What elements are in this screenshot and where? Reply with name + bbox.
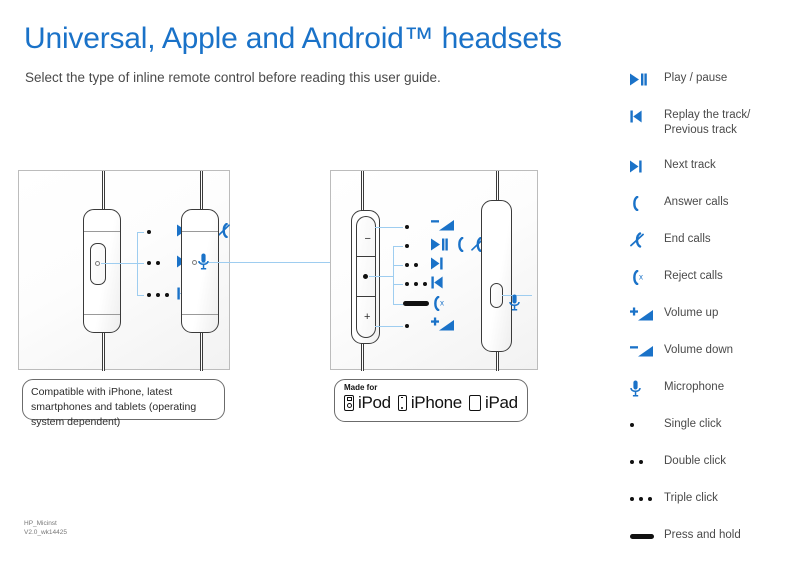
legend-label: Microphone xyxy=(664,379,724,395)
answer-call-icon xyxy=(455,237,464,252)
legend-label: Replay the track/ Previous track xyxy=(664,107,750,138)
legend-item-volume-down: Volume down xyxy=(630,342,800,360)
iphone-icon xyxy=(398,395,407,411)
press-hold-icon xyxy=(630,527,664,544)
legend-label: Volume up xyxy=(664,305,718,321)
legend-item-press-and-hold: Press and hold xyxy=(630,527,800,545)
cable-right-lower xyxy=(200,331,203,371)
microphone-icon xyxy=(198,253,209,270)
previous-track-icon xyxy=(431,276,443,289)
marker-triple-click xyxy=(147,293,169,297)
legend-label: Press and hold xyxy=(664,527,741,543)
volume-down-button[interactable]: − xyxy=(356,216,376,256)
cable-left xyxy=(361,171,364,211)
legend-item-triple-click: Triple click xyxy=(630,490,800,508)
cable-left xyxy=(102,171,105,211)
cable-right xyxy=(496,171,499,201)
single-click-icon xyxy=(630,416,664,433)
reject-call-icon: x xyxy=(630,268,664,285)
legend-item-volume-up: Volume up xyxy=(630,305,800,323)
play-pause-icon xyxy=(630,70,664,87)
actions-row-1 xyxy=(431,218,455,232)
marker-single-click-2 xyxy=(405,244,409,248)
leader-branch-c xyxy=(393,284,403,285)
next-track-icon xyxy=(431,257,443,270)
made-for-label: Made for xyxy=(344,384,518,392)
legend-item-play-pause: Play / pause xyxy=(630,70,800,88)
cable-right-lower xyxy=(496,351,499,371)
volume-down-icon xyxy=(630,342,664,359)
ipod-icon xyxy=(344,395,354,411)
next-track-icon xyxy=(630,157,664,174)
actions-row-2 xyxy=(431,237,484,252)
remote-body-mic xyxy=(481,200,512,352)
leader-volume-up xyxy=(375,326,403,327)
leader-branch-a xyxy=(393,246,403,247)
actions-row-6 xyxy=(431,317,455,332)
ipad-icon xyxy=(469,395,481,411)
microphone-hole xyxy=(192,260,197,265)
leader-volume-down xyxy=(375,227,403,228)
legend-item-microphone: Microphone xyxy=(630,379,800,397)
apple-caption: Made for iPod iPhone iPad xyxy=(334,379,528,422)
legend-item-double-click: Double click xyxy=(630,453,800,471)
document-page: Universal, Apple and Android™ headsets S… xyxy=(0,0,802,566)
volume-up-icon xyxy=(431,317,455,332)
legend-label: Triple click xyxy=(664,490,718,506)
marker-press-and-hold xyxy=(403,301,429,306)
universal-headset-diagram xyxy=(18,170,230,370)
leader-center-bracket xyxy=(393,246,394,304)
legend-label: Single click xyxy=(664,416,722,432)
microphone-icon xyxy=(509,294,520,311)
remote-body-mic xyxy=(181,209,219,333)
cable-right xyxy=(200,171,203,211)
marker-triple-click xyxy=(405,282,427,286)
leader-branch-2 xyxy=(137,263,144,264)
legend-label: End calls xyxy=(664,231,711,247)
ipad-label: iPad xyxy=(485,394,518,411)
marker-single-click xyxy=(147,230,151,234)
universal-caption: Compatible with iPhone, latest smartphon… xyxy=(22,379,225,420)
leader-branch-d xyxy=(393,304,403,305)
legend-item-next-track: Next track xyxy=(630,157,800,175)
legend: Play / pause Replay the track/ Previous … xyxy=(630,70,800,564)
leader-branch-b xyxy=(393,265,403,266)
marker-double-click xyxy=(147,261,160,265)
volume-up-button[interactable]: + xyxy=(356,297,376,338)
play-pause-icon xyxy=(431,238,448,251)
cable-left-lower xyxy=(361,343,364,371)
center-button-dot xyxy=(363,274,368,279)
ipod-label: iPod xyxy=(358,394,391,411)
end-call-icon xyxy=(630,231,664,248)
svg-text:x: x xyxy=(440,299,444,308)
marker-single-click-3 xyxy=(405,324,409,328)
legend-item-previous-track: Replay the track/ Previous track xyxy=(630,107,800,138)
leader-branch-1 xyxy=(137,232,144,233)
legend-item-answer-calls: Answer calls xyxy=(630,194,800,212)
leader-branch-3 xyxy=(137,295,144,296)
legend-item-end-calls: End calls xyxy=(630,231,800,249)
marker-single-click xyxy=(405,225,409,229)
made-for-devices: iPod iPhone iPad xyxy=(344,394,518,411)
microphone-callout-apple xyxy=(509,294,520,311)
cable-left-lower xyxy=(102,331,105,371)
actions-row-5: x xyxy=(431,296,448,311)
leader-line xyxy=(101,263,137,264)
previous-track-icon xyxy=(630,107,664,124)
page-subtitle: Select the type of inline remote control… xyxy=(25,70,441,85)
legend-label: Answer calls xyxy=(664,194,729,210)
iphone-label: iPhone xyxy=(411,394,462,411)
document-footer: HP_Micinst V2.0_wk14425 xyxy=(24,519,67,539)
actions-row-4 xyxy=(431,276,443,289)
legend-label: Reject calls xyxy=(664,268,723,284)
button-hole xyxy=(95,261,100,266)
svg-text:x: x xyxy=(639,272,643,281)
actions-row-3 xyxy=(431,257,443,270)
legend-label: Play / pause xyxy=(664,70,727,86)
legend-item-single-click: Single click xyxy=(630,416,800,434)
page-title: Universal, Apple and Android™ headsets xyxy=(24,22,562,56)
leader-center xyxy=(369,276,393,277)
double-click-icon xyxy=(630,453,664,470)
triple-click-icon xyxy=(630,490,664,507)
apple-headset-diagram: − + xyxy=(330,170,538,370)
legend-label: Next track xyxy=(664,157,716,173)
volume-down-icon xyxy=(431,218,455,232)
marker-double-click xyxy=(405,263,418,267)
microphone-icon xyxy=(630,379,664,396)
legend-label: Volume down xyxy=(664,342,733,358)
microphone-callout-universal xyxy=(198,253,209,270)
volume-up-icon xyxy=(630,305,664,322)
answer-call-icon xyxy=(630,194,664,211)
reject-call-icon: x xyxy=(431,296,448,311)
legend-label: Double click xyxy=(664,453,726,469)
legend-item-reject-calls: x Reject calls xyxy=(630,268,800,286)
